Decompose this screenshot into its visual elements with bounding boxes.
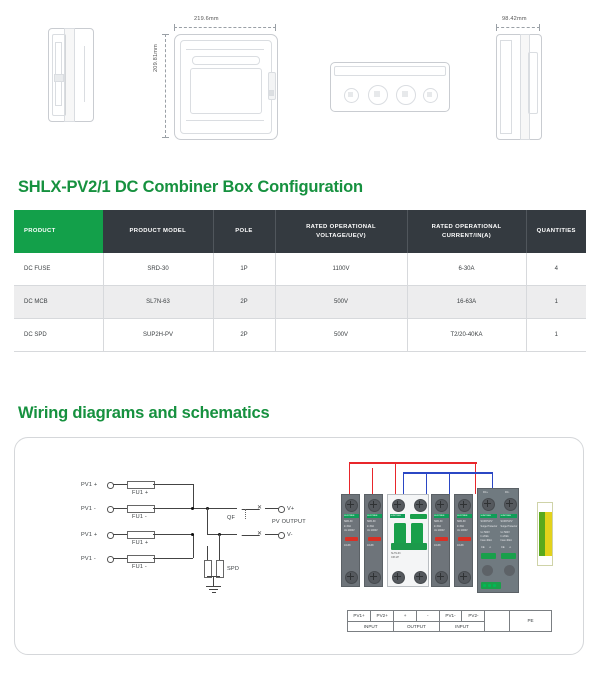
schematic-output-label-neg: V- [287,532,293,538]
din-module-mcb: SUNTREE SL7N-63 C63 2P [387,494,429,587]
table-row: DC MCB SL7N-63 2P 500V 16-63A 1 [14,286,586,319]
cell-qty: 4 [526,253,586,286]
schematic-output-group-label: PV OUTPUT [272,519,306,525]
cell-voltage: 500V [275,319,407,352]
module-brand-label: SUNTREE [344,515,354,517]
cell-product: DC SPD [14,319,103,352]
cell-model: SUP2H-PV [103,319,213,352]
rated-voltage-line1: RATED OPERATIONAL [306,224,376,230]
schematic-output-label-pos: V+ [287,506,294,512]
legend-cell-out-neg: - [417,611,440,622]
cell-product: DC MCB [14,286,103,319]
product-view-front: 219.6mm 209.81mm [160,16,300,144]
schematic-input-label-4: PV1 - [81,556,96,562]
rated-voltage-line2: VOLTAGE/UE(V) [316,233,366,239]
schematic-input-label-1: PV1 + [81,482,97,488]
config-table-wrap: PRODUCT PRODUCT MODEL POLE RATED OPERATI… [0,210,600,352]
schematic-fuse-label-1: FU1 + [132,490,148,496]
wiring-section-heading: Wiring diagrams and schematics [0,404,600,423]
cell-model: SL7N-63 [103,286,213,319]
product-view-side [44,28,96,120]
column-header-pole: POLE [213,210,275,253]
legend-cell-pv1-pos: PV1+ [348,611,371,622]
legend-cell-input-2: INPUT [439,621,485,632]
schematic-switch-label: QF [227,515,235,521]
module-brand-label: SUNTREE [367,515,377,517]
schematic-break-icon-1: ✕ [257,505,262,511]
din-module-spd: DC+ DC- SUNTREE SUNTREE SUP2H-PV SUP2H-P… [477,488,519,593]
legend-cell-output: OUTPUT [394,621,439,632]
legend-cell-pv2-pos: PV2+ [371,611,394,622]
ce-mark-icon: CE [501,546,505,549]
legend-cell-pe: PE [510,611,552,632]
cell-voltage: 500V [275,286,407,319]
cell-voltage: 1100V [275,253,407,286]
schematic-input-label-3: PV1 + [81,532,97,538]
legend-cell-blank [485,611,510,632]
din-module-fuse-4: SUNTREE SRD-30 In:30A Un:1000V 10x38 [454,494,473,587]
cell-model: SRD-30 [103,253,213,286]
schematic-fuse-label-3: FU1 + [132,540,148,546]
config-section-heading: SHLX-PV2/1 DC Combiner Box Configuration [0,178,600,197]
product-view-edge: 98.42mm [492,16,572,144]
product-view-bottom [330,62,450,112]
din-module-fuse-1: SUNTREE SRD-30 In:30A Un:1000V 10x38 [341,494,360,587]
module-brand-label: SUNTREE [434,515,444,517]
column-header-product-model: PRODUCT MODEL [103,210,213,253]
cell-current: 6-30A [407,253,526,286]
spd-terminal-label-neg: DC- [505,491,509,495]
module-model-label: SRD-30 [367,520,376,524]
ce-mark-icon: CE [481,546,485,549]
cell-pole: 2P [213,286,275,319]
dimension-width-label: 219.6mm [194,16,219,22]
legend-cell-out-pos: + [394,611,417,622]
module-brand-label: SUNTREE [391,515,401,517]
spd-model-label-1: SUP2H-PV [481,520,493,524]
module-model-label: SRD-30 [434,520,443,524]
column-header-rated-voltage: RATED OPERATIONAL VOLTAGE/UE(V) [275,210,407,253]
din-module-fuse-3: SUNTREE SRD-30 In:30A Un:1000V 10x38 [431,494,450,587]
spd-model-label-2: SUP2H-PV [501,520,513,524]
config-table: PRODUCT PRODUCT MODEL POLE RATED OPERATI… [14,210,586,352]
column-header-quantities: QUANTITIES [526,210,586,253]
dimension-edge-label: 98.42mm [502,16,527,22]
schematic-input-label-2: PV1 - [81,506,96,512]
table-row: DC FUSE SRD-30 1P 1100V 6-30A 4 [14,253,586,286]
schematic-drawing: PV1 + FU1 + PV1 - FU1 - PV1 + FU1 + PV1 … [29,456,309,616]
cell-current: T2/20-40KA [407,319,526,352]
wiring-diagram-panel: PV1 + FU1 + PV1 - FU1 - PV1 + FU1 + PV1 … [14,437,584,655]
cell-product: DC FUSE [14,253,103,286]
module-model-label: SRD-30 [344,520,353,524]
legend-cell-pv1-neg: PV1- [439,611,462,622]
module-brand-label: SUNTREE [457,515,467,517]
terminal-legend-table: PV1+ PV2+ + - PV1- PV2- PE INPUT OUTPUT … [347,610,552,632]
cell-pole: 1P [213,253,275,286]
module-brand-label: SUNTREE [481,515,491,517]
warning-triangle-icon: ⚠ [489,546,491,549]
spd-terminal-label-pos: DC+ [483,491,488,495]
table-header-row: PRODUCT PRODUCT MODEL POLE RATED OPERATI… [14,210,586,253]
product-datasheet-page: 219.6mm 209.81mm [0,0,600,692]
schematic-fuse-label-4: FU1 - [132,564,147,570]
product-image-strip: 219.6mm 209.81mm [0,0,600,160]
pe-terminal-strip [537,502,553,566]
warning-triangle-icon: ⚠ [509,546,511,549]
cell-current: 16-63A [407,286,526,319]
dimension-height-label: 209.81mm [153,44,159,72]
schematic-fuse-label-2: FU1 - [132,514,147,520]
module-model-label: SRD-30 [457,520,466,524]
cell-qty: 1 [526,319,586,352]
rated-current-line1: RATED OPERATIONAL [432,224,502,230]
table-row: DC SPD SUP2H-PV 2P 500V T2/20-40KA 1 [14,319,586,352]
rated-current-line2: CURRENT/IN(A) [442,233,491,239]
column-header-product: PRODUCT [14,210,103,253]
schematic-spd-label: SPD [227,566,239,572]
din-module-fuse-2: SUNTREE SRD-30 In:30A Un:1000V 10x38 [364,494,383,587]
schematic-break-icon-2: ✕ [257,531,262,537]
din-rail-assembly: SUNTREE SRD-30 In:30A Un:1000V 10x38 SUN… [341,458,571,588]
module-brand-label: SUNTREE [501,515,511,517]
legend-row-terminals: PV1+ PV2+ + - PV1- PV2- PE [348,611,552,622]
legend-cell-input-1: INPUT [348,621,394,632]
legend-cell-pv2-neg: PV2- [462,611,485,622]
column-header-rated-current: RATED OPERATIONAL CURRENT/IN(A) [407,210,526,253]
cell-pole: 2P [213,319,275,352]
cell-qty: 1 [526,286,586,319]
